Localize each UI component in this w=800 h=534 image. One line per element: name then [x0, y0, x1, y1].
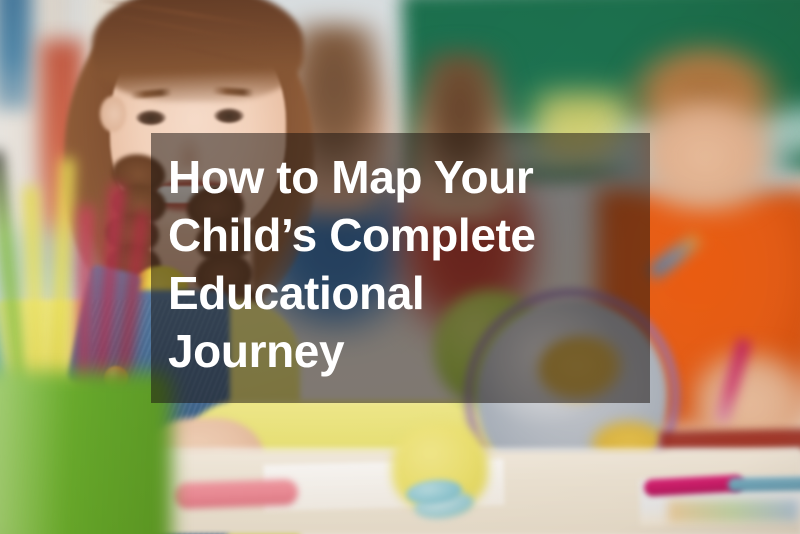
background-boy-face [634, 96, 778, 216]
pencil-cup-highlight [0, 372, 172, 534]
blue-marker [728, 476, 800, 492]
pink-marker [174, 479, 299, 509]
article-hero-banner: How to Map Your Child’s Complete Educati… [0, 0, 800, 534]
girl-eye-left [136, 110, 166, 125]
page-title: How to Map Your Child’s Complete Educati… [168, 148, 638, 380]
girl-eye-right [214, 108, 244, 123]
paper-drawing [668, 500, 798, 522]
girl-ear [100, 96, 126, 132]
